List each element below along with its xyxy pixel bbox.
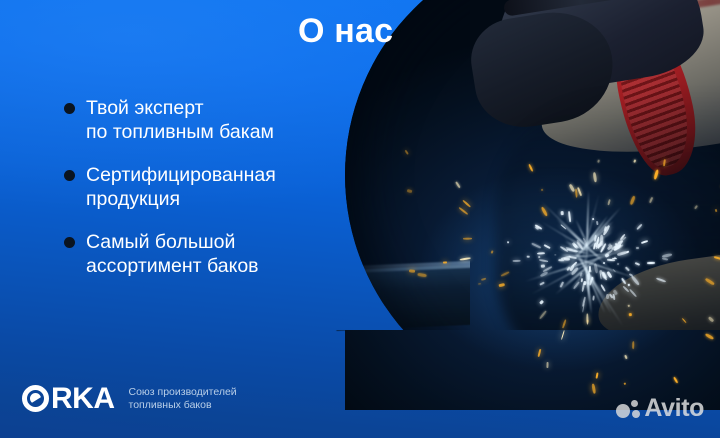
bullet-dot-icon [64,237,75,248]
bullet-dot-icon [64,170,75,181]
list-item: Самый большой ассортимент баков [64,230,374,278]
avito-dots-icon [616,400,640,418]
avito-watermark: Avito [616,396,704,421]
list-item: Твой эксперт по топливным бакам [64,96,374,144]
bullet-dot-icon [64,103,75,114]
avito-wordmark: Avito [644,396,704,421]
list-item-label: Самый большой ассортимент баков [86,230,374,278]
list-item-label: Твой эксперт по топливным бакам [86,96,374,144]
list-item: Сертифицированная продукция [64,163,374,211]
brand-tagline: Союз производителей топливных баков [129,386,237,412]
page-title: О нас [298,12,393,51]
orka-logo: RKA Союз производителей топливных баков [22,385,237,412]
list-item-label: Сертифицированная продукция [86,163,374,211]
orka-wordmark: RKA [51,385,115,412]
benefits-list: Твой эксперт по топливным бакам Сертифиц… [64,96,374,278]
banner-canvas: О нас Твой эксперт по топливным бакам Се… [0,0,720,438]
orka-o-mark-icon [22,385,49,412]
